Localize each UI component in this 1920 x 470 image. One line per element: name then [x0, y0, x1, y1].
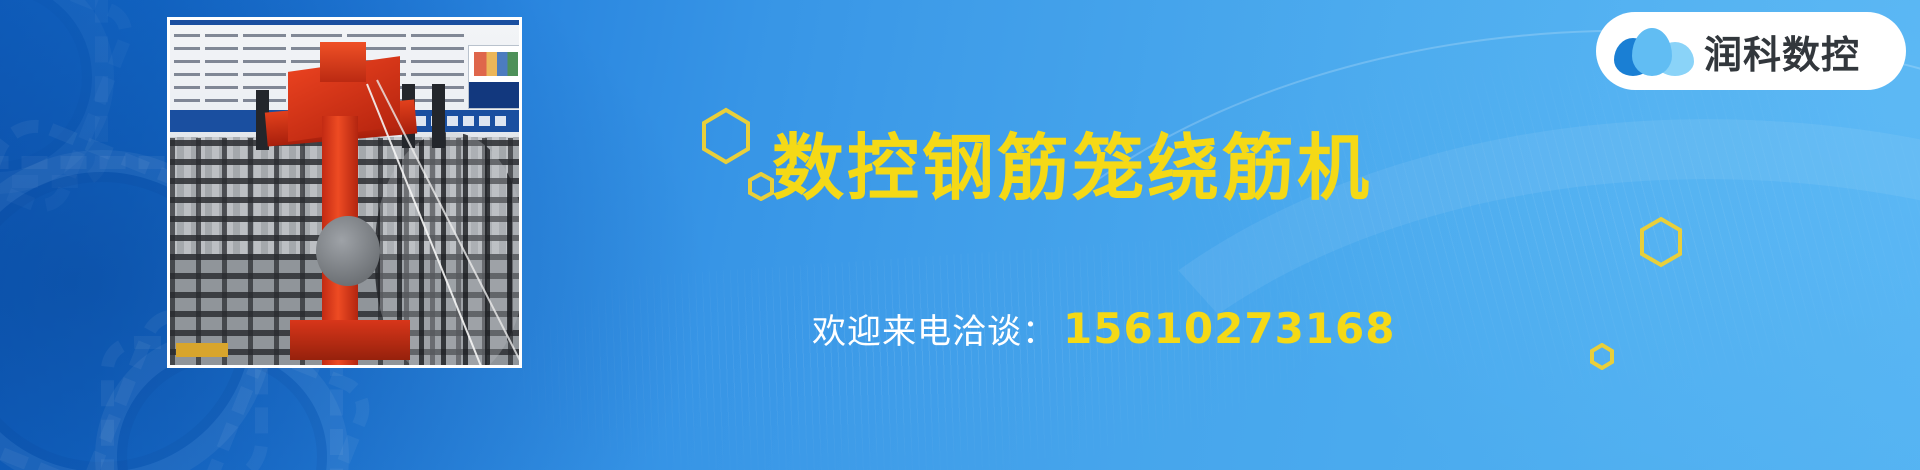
gear-icon-small [0, 0, 114, 194]
photo-yellow-marker [176, 343, 228, 357]
photo-post-right [432, 84, 445, 148]
hexagon-small-left-icon [748, 172, 774, 201]
brand-name: 润科数控 [1704, 24, 1860, 79]
hexagon-small-right-icon [1590, 343, 1614, 370]
product-photo-image [170, 20, 519, 365]
hexagon-medium-right-icon [1638, 216, 1684, 268]
product-photo [167, 17, 522, 368]
contact-phone[interactable]: 15610273168 [1063, 304, 1395, 353]
cloud-blob-mid [1632, 28, 1672, 76]
brand-logo[interactable]: 润科数控 [1596, 12, 1906, 90]
contact-label: 欢迎来电洽谈： [812, 312, 1057, 352]
photo-machine-drum [316, 216, 380, 286]
cloud-blobs-icon [1612, 24, 1696, 78]
promo-banner: 数控钢筋笼绕筋机 欢迎来电洽谈：15610273168 润科数控 [0, 0, 1920, 470]
photo-machine-top [320, 42, 366, 82]
photo-signboard-poster [468, 45, 519, 109]
page-title: 数控钢筋笼绕筋机 [772, 132, 1372, 204]
hexagon-large-left-icon [700, 107, 752, 165]
photo-machine-base [290, 320, 410, 360]
contact-line: 欢迎来电洽谈：15610273168 [812, 308, 1395, 350]
